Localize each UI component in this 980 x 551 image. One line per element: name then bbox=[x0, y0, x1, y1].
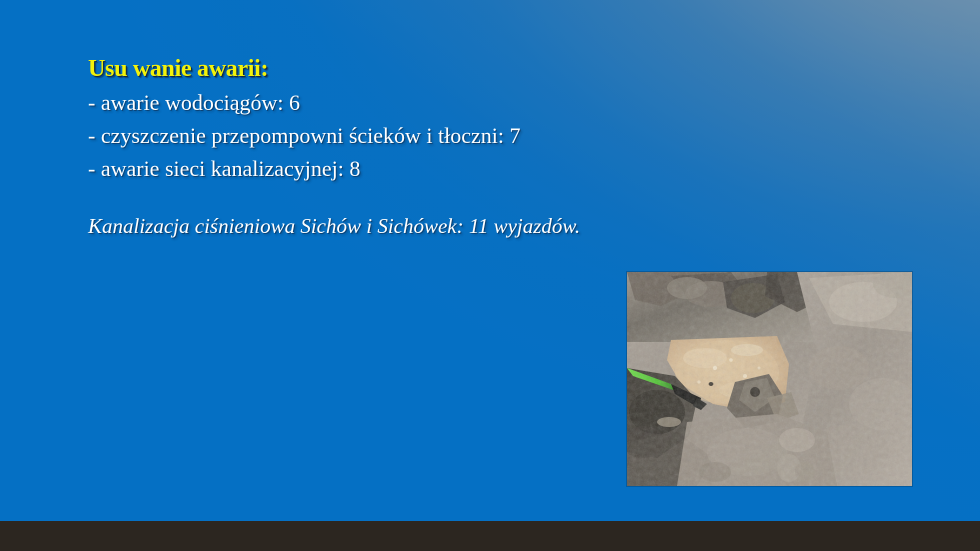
bullet-list: - awarie wodociągów: 6 - czyszczenie prz… bbox=[88, 86, 628, 185]
bullet-item-water-failures: - awarie wodociągów: 6 bbox=[88, 86, 628, 119]
presentation-slide: Usu wanie awarii: - awarie wodociągów: 6… bbox=[0, 0, 980, 551]
slide-text-block: Usu wanie awarii: - awarie wodociągów: 6… bbox=[88, 54, 628, 240]
excavation-photo-graphic bbox=[627, 272, 912, 486]
excavation-photo bbox=[627, 272, 912, 486]
note-pressure-sewer: Kanalizacja ciśnieniowa Sichów i Sichówe… bbox=[88, 212, 628, 240]
slide-footer-band bbox=[0, 521, 980, 551]
slide-title: Usu wanie awarii: bbox=[88, 54, 628, 84]
bullet-item-sewer-failures: - awarie sieci kanalizacyjnej: 8 bbox=[88, 152, 628, 185]
bullet-item-pumping-station-cleaning: - czyszczenie przepompowni ścieków i tło… bbox=[88, 119, 628, 152]
